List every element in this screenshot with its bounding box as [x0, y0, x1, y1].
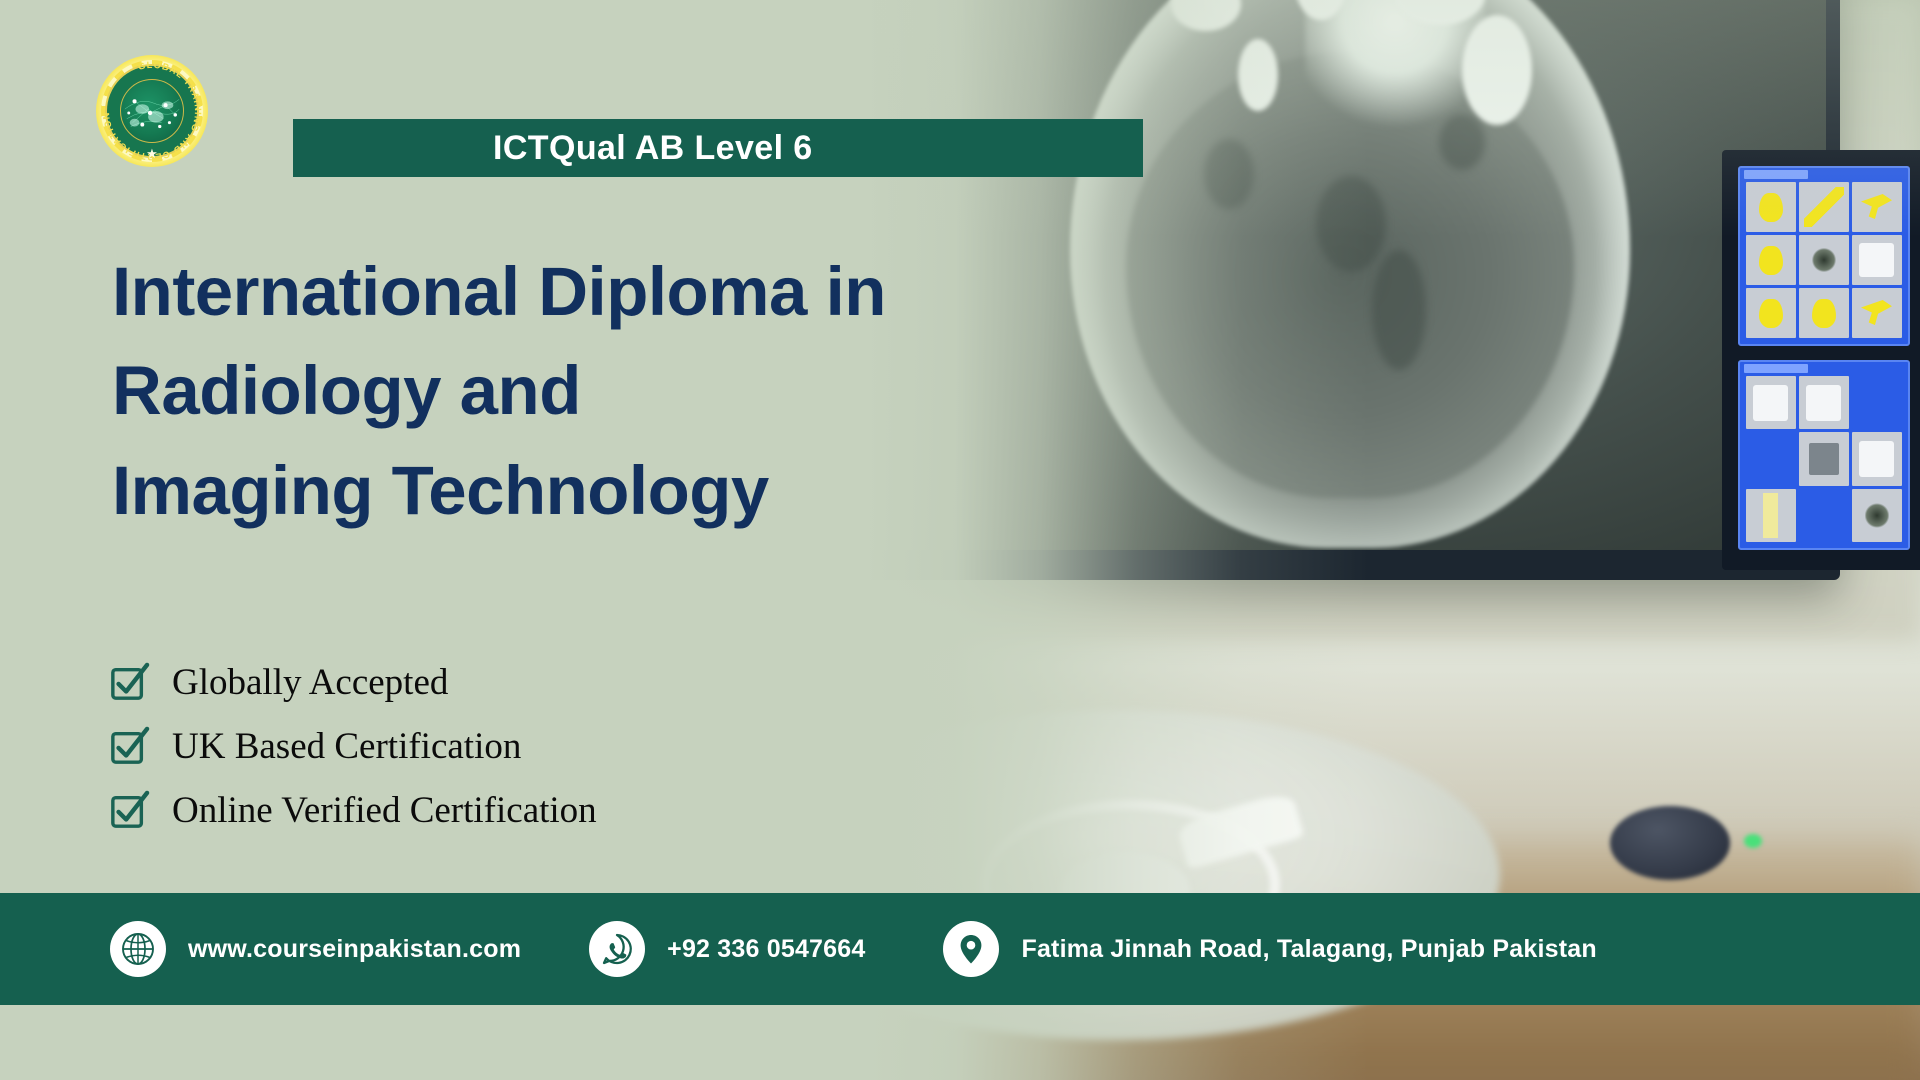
feature-list: Globally Accepted UK Based Certification… [110, 650, 597, 842]
check-box-icon [110, 791, 148, 829]
feature-item: Globally Accepted [110, 650, 597, 714]
thumbnail [1746, 489, 1796, 542]
thumbnail [1746, 235, 1796, 285]
panel-titlebar [1744, 364, 1808, 373]
monitor-thumbnail-rail [1722, 150, 1920, 570]
footer-website[interactable]: www.courseinpakistan.com [110, 921, 521, 977]
thumbnail [1852, 376, 1902, 429]
feature-label: Online Verified Certification [172, 792, 597, 829]
logo-star-icon: ★ [146, 147, 158, 160]
thumbnail [1852, 288, 1902, 338]
organization-logo: GLOBAL TRAINING AND CERTIFICATION SERVIC… [96, 55, 208, 167]
panel-titlebar [1744, 170, 1808, 179]
course-title-line-2: Radiology and [112, 341, 1072, 440]
course-title-line-1: International Diploma in [112, 242, 1072, 341]
thumbnail [1799, 489, 1849, 542]
thumbnail [1746, 182, 1796, 232]
thumbnail [1799, 432, 1849, 485]
logo-globe-network [120, 79, 184, 143]
qualification-badge: ICTQual AB Level 6 [293, 119, 1143, 177]
globe-icon [110, 921, 166, 977]
footer-address-text: Fatima Jinnah Road, Talagang, Punjab Pak… [1021, 935, 1596, 964]
thumbnail [1799, 288, 1849, 338]
thumbnail [1799, 182, 1849, 232]
thumbnail [1746, 376, 1796, 429]
feature-item: Online Verified Certification [110, 778, 597, 842]
whatsapp-icon [589, 921, 645, 977]
feature-label: UK Based Certification [172, 728, 521, 765]
footer-address[interactable]: Fatima Jinnah Road, Talagang, Punjab Pak… [943, 921, 1596, 977]
thumbnail-panel-lower [1738, 360, 1910, 550]
thumbnail [1746, 288, 1796, 338]
ct-brain-scan-image [1070, 0, 1630, 548]
thumbnail [1852, 182, 1902, 232]
check-box-icon [110, 727, 148, 765]
footer-phone-text: +92 336 0547664 [667, 935, 865, 964]
thumbnail [1852, 432, 1902, 485]
thumbnail [1852, 489, 1902, 542]
footer-phone[interactable]: +92 336 0547664 [589, 921, 865, 977]
footer-website-text: www.courseinpakistan.com [188, 935, 521, 964]
course-title-line-3: Imaging Technology [112, 441, 1072, 540]
contact-footer: www.courseinpakistan.com +92 336 0547664… [0, 893, 1920, 1005]
thumbnail [1852, 235, 1902, 285]
thumbnail-panel-upper [1738, 166, 1910, 346]
console-knob [1610, 806, 1730, 880]
qualification-badge-label: ICTQual AB Level 6 [293, 129, 813, 168]
check-box-icon [110, 663, 148, 701]
promotional-poster: GLOBAL TRAINING AND CERTIFICATION SERVIC… [0, 0, 1920, 1080]
thumbnail [1799, 376, 1849, 429]
location-pin-icon [943, 921, 999, 977]
feature-label: Globally Accepted [172, 664, 448, 701]
course-title: International Diploma in Radiology and I… [112, 242, 1072, 540]
thumbnail [1746, 432, 1796, 485]
feature-item: UK Based Certification [110, 714, 597, 778]
console-led-indicator [1744, 834, 1762, 848]
thumbnail [1799, 235, 1849, 285]
